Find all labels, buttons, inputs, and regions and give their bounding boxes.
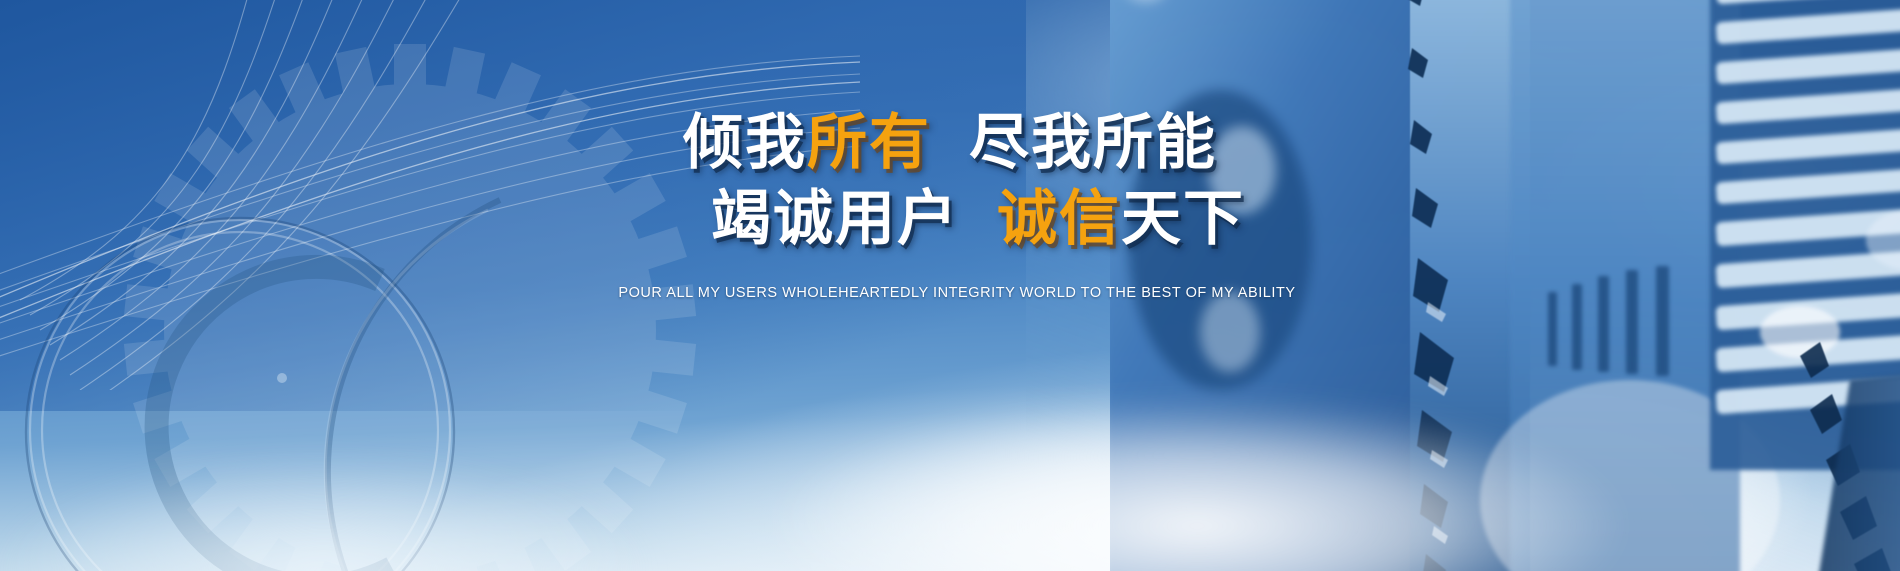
headline-line-2: 竭诚用户诚信天下 <box>0 188 1900 252</box>
banner-subtitle: POUR ALL MY USERS WHOLEHEARTEDLY INTEGRI… <box>0 285 1900 301</box>
headline-line1-seg-3: 尽我所能 <box>969 112 1217 176</box>
headline-line-1: 倾我所有尽我所能 <box>0 112 1900 176</box>
headline-line2-seg-3: 天下 <box>1121 188 1245 252</box>
headline-line1-seg-1: 倾我 <box>683 112 807 176</box>
headline-line2-seg-2: 诚信 <box>997 188 1121 252</box>
headline-line1-seg-2: 所有 <box>807 112 931 176</box>
banner-copy: 倾我所有尽我所能 竭诚用户诚信天下 POUR ALL MY USERS WHOL… <box>0 112 1900 301</box>
headline-line2-seg-1: 竭诚用户 <box>711 188 959 252</box>
arc-dot <box>277 373 287 383</box>
hero-banner: 倾我所有尽我所能 竭诚用户诚信天下 POUR ALL MY USERS WHOL… <box>0 0 1900 571</box>
